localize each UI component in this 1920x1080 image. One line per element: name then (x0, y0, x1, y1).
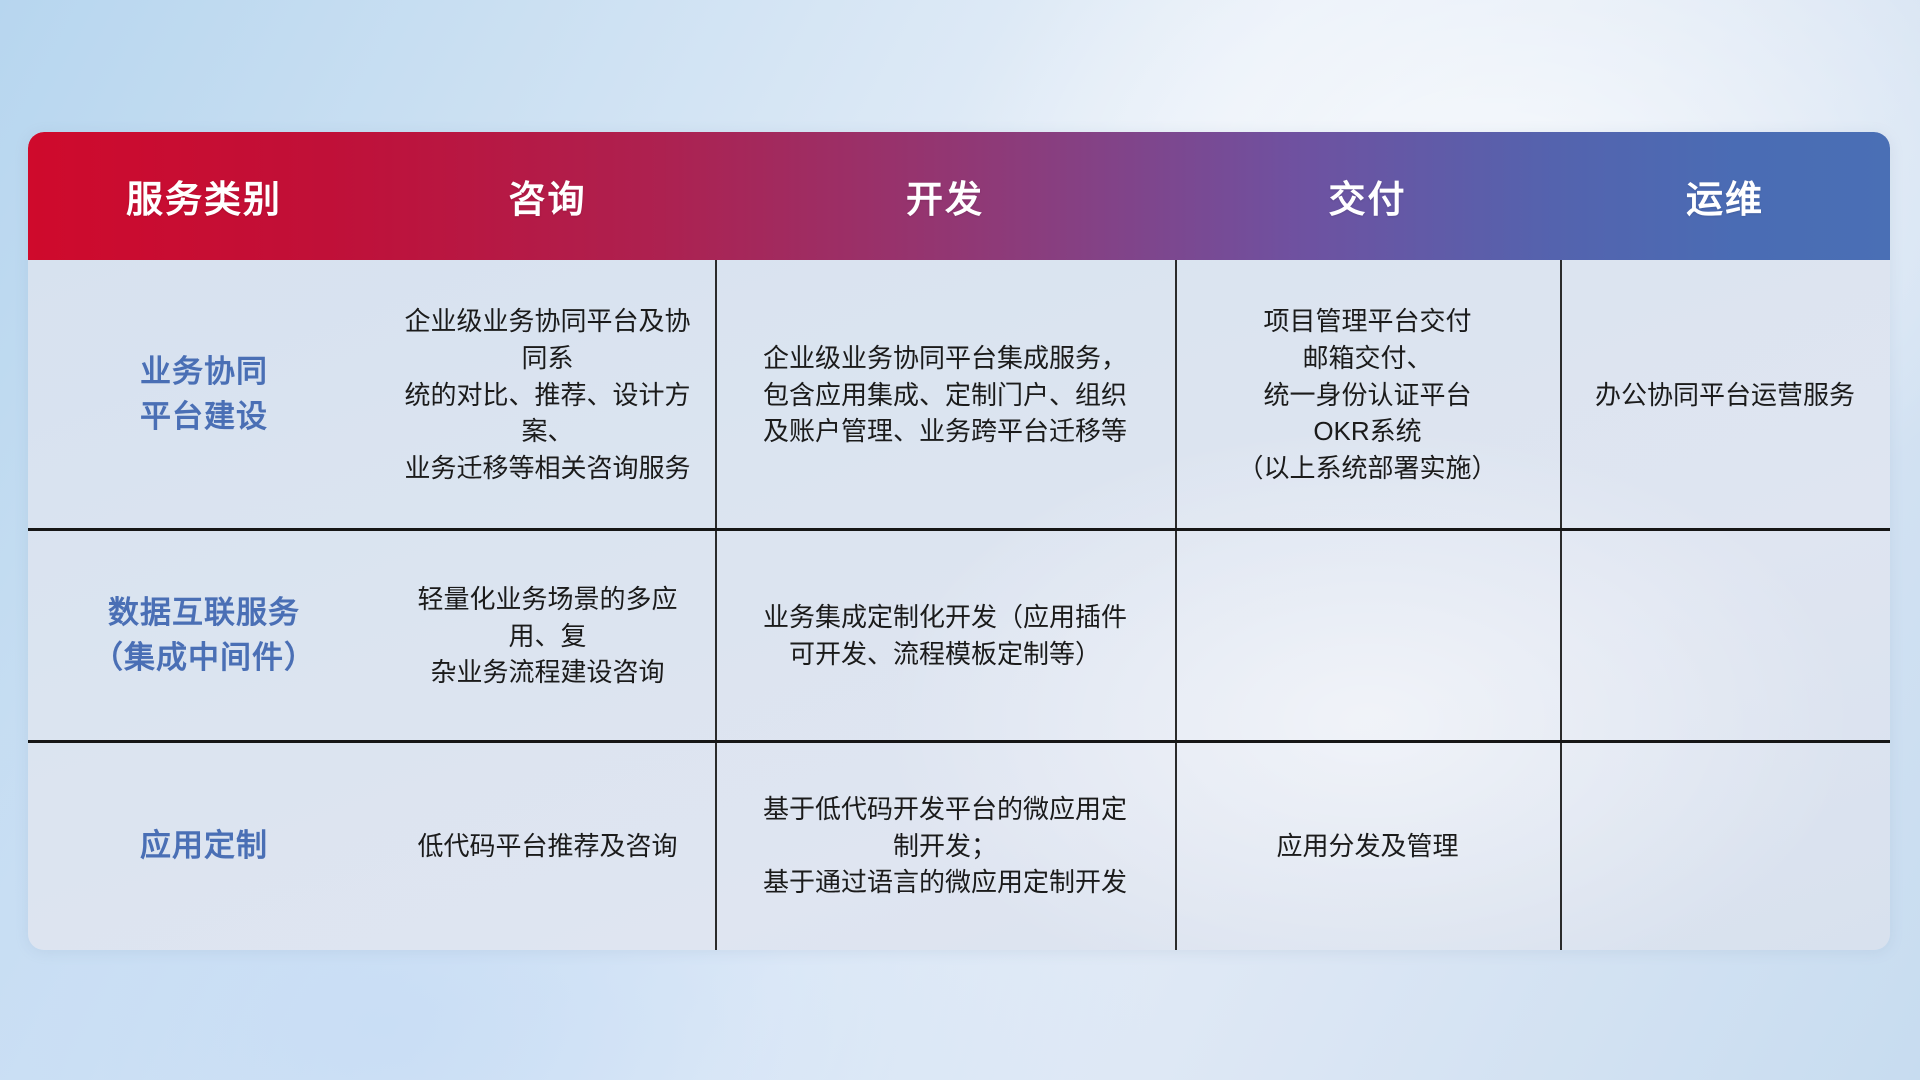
column-divider-3 (1560, 260, 1562, 950)
row-development-cell: 基于低代码开发平台的微应用定 制开发； 基于通过语言的微应用定制开发 (715, 742, 1175, 950)
row-consulting-text: 轻量化业务场景的多应用、复 杂业务流程建设咨询 (398, 581, 697, 692)
row-divider-1 (28, 528, 1890, 531)
row-development-text: 业务集成定制化开发（应用插件 可开发、流程模板定制等） (763, 599, 1127, 673)
column-header-development: 开发 (715, 132, 1175, 260)
row-category-cell: 数据互联服务 （集成中间件） (28, 530, 380, 742)
row-development-text: 基于低代码开发平台的微应用定 制开发； 基于通过语言的微应用定制开发 (763, 791, 1127, 902)
row-delivery-text: 项目管理平台交付 邮箱交付、 统一身份认证平台 OKR系统 （以上系统部署实施） (1237, 303, 1497, 488)
column-header-delivery: 交付 (1175, 132, 1560, 260)
row-development-cell: 企业级业务协同平台集成服务， 包含应用集成、定制门户、组织 及账户管理、业务跨平… (715, 260, 1175, 530)
column-divider-1 (715, 260, 717, 950)
column-header-operations: 运维 (1560, 132, 1890, 260)
column-header-category: 服务类别 (28, 132, 380, 260)
row-divider-2 (28, 740, 1890, 743)
row-consulting-cell: 企业级业务协同平台及协同系 统的对比、推荐、设计方案、 业务迁移等相关咨询服务 (380, 260, 715, 530)
row-consulting-cell: 低代码平台推荐及咨询 (380, 742, 715, 950)
column-divider-2 (1175, 260, 1177, 950)
table-header-row: 服务类别 咨询 开发 交付 运维 (28, 132, 1890, 260)
row-delivery-cell: 项目管理平台交付 邮箱交付、 统一身份认证平台 OKR系统 （以上系统部署实施） (1175, 260, 1560, 530)
service-matrix-table: 服务类别 咨询 开发 交付 运维 业务协同 平台建设 企业级业务协同平台及协同系… (28, 132, 1890, 950)
row-delivery-text: 应用分发及管理 (1276, 828, 1458, 865)
row-development-cell: 业务集成定制化开发（应用插件 可开发、流程模板定制等） (715, 530, 1175, 742)
row-development-text: 企业级业务协同平台集成服务， 包含应用集成、定制门户、组织 及账户管理、业务跨平… (763, 340, 1127, 451)
row-category-cell: 应用定制 (28, 742, 380, 950)
row-operations-text: 办公协同平台运营服务 (1595, 377, 1855, 414)
row-consulting-cell: 轻量化业务场景的多应用、复 杂业务流程建设咨询 (380, 530, 715, 742)
column-header-consulting-label: 咨询 (509, 169, 587, 223)
row-operations-cell (1560, 530, 1890, 742)
row-delivery-cell (1175, 530, 1560, 742)
column-header-delivery-label: 交付 (1329, 169, 1407, 223)
row-consulting-text: 企业级业务协同平台及协同系 统的对比、推荐、设计方案、 业务迁移等相关咨询服务 (398, 303, 697, 488)
table-body: 业务协同 平台建设 企业级业务协同平台及协同系 统的对比、推荐、设计方案、 业务… (28, 260, 1890, 950)
row-category-label: 数据互联服务 （集成中间件） (92, 591, 316, 681)
column-header-operations-label: 运维 (1686, 169, 1764, 223)
table-row: 数据互联服务 （集成中间件） 轻量化业务场景的多应用、复 杂业务流程建设咨询 业… (28, 530, 1890, 742)
column-header-consulting: 咨询 (380, 132, 715, 260)
row-consulting-text: 低代码平台推荐及咨询 (417, 828, 677, 865)
table-row: 应用定制 低代码平台推荐及咨询 基于低代码开发平台的微应用定 制开发； 基于通过… (28, 742, 1890, 950)
row-category-label: 应用定制 (140, 824, 268, 869)
row-category-label: 业务协同 平台建设 (140, 350, 268, 440)
table-row: 业务协同 平台建设 企业级业务协同平台及协同系 统的对比、推荐、设计方案、 业务… (28, 260, 1890, 530)
row-delivery-cell: 应用分发及管理 (1175, 742, 1560, 950)
row-category-cell: 业务协同 平台建设 (28, 260, 380, 530)
row-operations-cell (1560, 742, 1890, 950)
row-operations-cell: 办公协同平台运营服务 (1560, 260, 1890, 530)
column-header-category-label: 服务类别 (126, 169, 282, 223)
column-header-development-label: 开发 (906, 169, 984, 223)
